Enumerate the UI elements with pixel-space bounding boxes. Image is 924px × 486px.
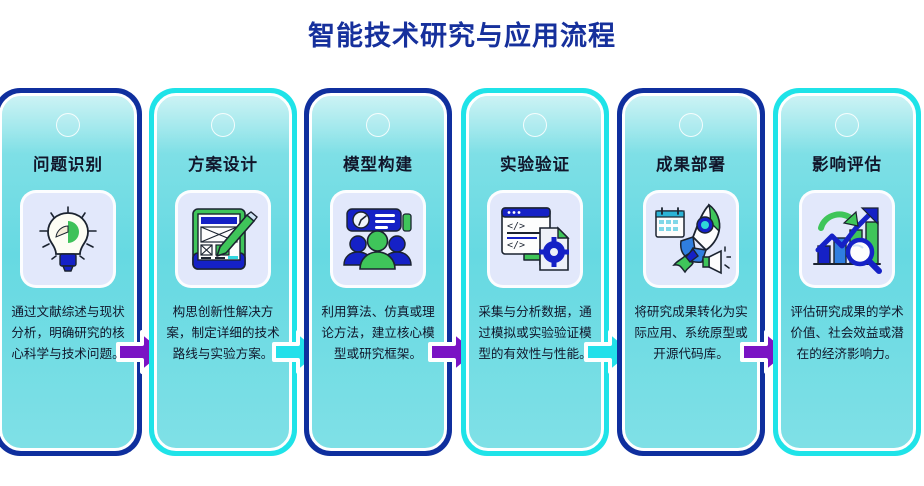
punch-hole-icon: [211, 113, 235, 137]
code-window-gear-icon: </> </>: [496, 202, 574, 276]
step-icon-container: [175, 190, 271, 288]
card-body: 方案设计: [154, 93, 292, 451]
infographic-canvas: 智能技术研究与应用流程 问题识别: [0, 0, 924, 486]
step-description: 构思创新性解决方案，制定详细的技术路线与实验方案。: [163, 302, 283, 364]
flow-step-card-2[interactable]: 方案设计: [149, 88, 297, 456]
flow-step-card-4[interactable]: 实验验证 </> </>: [461, 88, 609, 456]
flow-step-card-5[interactable]: 成果部署: [617, 88, 765, 456]
step-icon-container: </> </>: [487, 190, 583, 288]
step-description: 利用算法、仿真或理论方法，建立核心模型或研究框架。: [318, 302, 438, 364]
wireframe-pencil-icon: [185, 201, 261, 277]
page-title: 智能技术研究与应用流程: [0, 14, 924, 53]
flow-step-card-1[interactable]: 问题识别: [0, 88, 142, 456]
flow-step-card-3[interactable]: 模型构建: [304, 88, 452, 456]
punch-hole-icon: [56, 113, 80, 137]
step-description: 通过文献综述与现状分析，明确研究的核心科学与技术问题。: [8, 302, 128, 364]
flow-step-card-6[interactable]: 影响评估: [773, 88, 921, 456]
card-body: 模型构建: [309, 93, 447, 451]
svg-text:</>: </>: [507, 240, 525, 251]
step-description: 采集与分析数据，通过模拟或实验验证模型的有效性与性能。: [475, 302, 595, 364]
team-people-icon: [339, 203, 417, 275]
punch-hole-icon: [679, 113, 703, 137]
step-title: 影响评估: [812, 151, 882, 175]
card-body: 实验验证 </> </>: [466, 93, 604, 451]
lightbulb-pie-icon: [32, 201, 104, 277]
card-body: 影响评估: [778, 93, 916, 451]
growth-chart-magnifier-icon: [808, 202, 886, 276]
step-icon-container: [20, 190, 116, 288]
step-title: 成果部署: [656, 151, 726, 175]
step-icon-container: [330, 190, 426, 288]
step-description: 评估研究成果的学术价值、社会效益或潜在的经济影响力。: [787, 302, 907, 364]
punch-hole-icon: [835, 113, 859, 137]
rocket-launch-icon: [651, 201, 731, 277]
punch-hole-icon: [523, 113, 547, 137]
svg-text:</>: </>: [507, 221, 525, 232]
step-title: 实验验证: [500, 151, 570, 175]
card-body: 成果部署: [622, 93, 760, 451]
step-description: 将研究成果转化为实际应用、系统原型或开源代码库。: [631, 302, 751, 364]
punch-hole-icon: [366, 113, 390, 137]
step-title: 方案设计: [188, 151, 258, 175]
step-title: 模型构建: [343, 151, 413, 175]
step-icon-container: [799, 190, 895, 288]
process-flow: 问题识别: [0, 88, 924, 460]
card-body: 问题识别: [0, 93, 137, 451]
step-icon-container: [643, 190, 739, 288]
step-title: 问题识别: [33, 151, 103, 175]
